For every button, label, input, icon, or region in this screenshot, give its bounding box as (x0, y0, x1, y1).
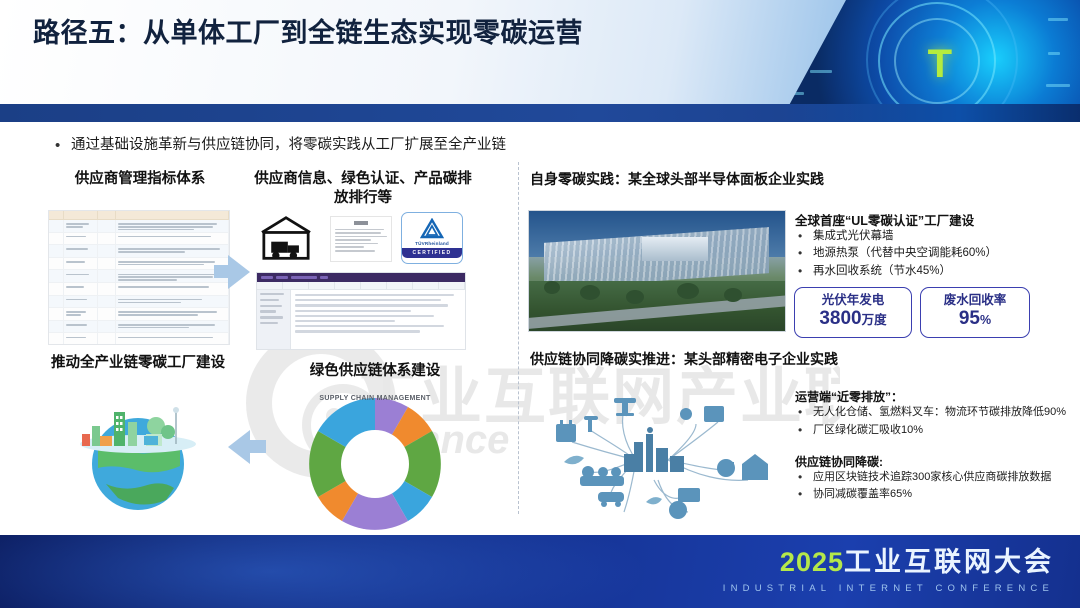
tuv-triangle-icon (420, 218, 444, 240)
conference-year: 2025 (780, 547, 844, 577)
slide-body: •通过基础设施革新与供应链协同，将零碳实践从工厂扩展至全产业链 工业互联网产业联… (0, 122, 1080, 535)
ul-zero-carbon-subtitle: 全球首座“UL零碳认证”工厂建设 (795, 210, 1075, 229)
page-title: 路径五：从单体工厂到全链生态实现零碳运营 (33, 16, 693, 52)
supplier-platform-screenshot (256, 272, 466, 350)
table-row (49, 245, 229, 258)
conference-logo-main: 2025工业互联网大会 (723, 549, 1054, 576)
green-earth-illustration (58, 392, 218, 512)
table-row (49, 283, 229, 296)
table-row (49, 296, 229, 309)
heading-green-supply-chain: 绿色供应链体系建设 (285, 362, 465, 381)
conference-name-en: INDUSTRIAL INTERNET CONFERENCE (723, 583, 1054, 594)
browser-sidebar (257, 290, 291, 350)
list-item: 地源热泵（代替中央空调能耗60%） (795, 245, 1065, 262)
heading-supplier-index: 供应商管理指标体系 (42, 170, 238, 189)
table-row (49, 321, 229, 334)
conference-name-cn: 工业互联网大会 (844, 547, 1054, 577)
kpi-value: 95% (925, 308, 1025, 331)
table-row (49, 233, 229, 246)
table-row (49, 270, 229, 283)
heading-self-zero-carbon-practice: 自身零碳实践：某全球头部半导体面板企业实践 (530, 170, 1050, 188)
kpi-card-wastewater-recovery: 废水回收率 95% (920, 287, 1030, 338)
supply-chain-network-diagram (528, 384, 790, 534)
list-item: 应用区块链技术追踪300家核心供应商碳排放数据 (795, 469, 1080, 486)
supply-chain-decarb-title: 供应链协同降碳: (795, 453, 1075, 470)
browser-title-bar (257, 273, 465, 282)
kpi-value: 3800万度 (799, 308, 907, 331)
tuv-certified-label: CERTIFIED (402, 248, 462, 258)
list-item: 协同减碳覆盖率65% (795, 486, 1080, 503)
intro-bullet-text: 通过基础设施革新与供应链协同，将零碳实践从工厂扩展至全产业链 (71, 137, 506, 153)
bullet-marker-icon: • (55, 135, 71, 156)
intro-bullet: •通过基础设施革新与供应链协同，将零碳实践从工厂扩展至全产业链 (55, 135, 955, 156)
list-item: 厂区绿化碳汇吸收10% (795, 422, 1080, 439)
kpi-label: 废水回收率 (925, 293, 1025, 307)
table-row (49, 308, 229, 321)
slide-header: T 路径五：从单体工厂到全链生态实现零碳运营 (0, 0, 1080, 122)
factory-aerial-photo (528, 210, 786, 332)
kpi-card-solar-generation: 光伏年发电 3800万度 (794, 287, 912, 338)
operations-bullet-list: 无人化仓储、氢燃料叉车：物流环节碳排放降低90% 厂区绿化碳汇吸收10% (795, 404, 1080, 439)
operations-near-zero-title: 运营端“近零排放”： (795, 388, 1075, 405)
kpi-label: 光伏年发电 (799, 293, 907, 307)
heading-supply-chain-collaboration: 供应链协同降碳实推进：某头部精密电子企业实践 (530, 350, 1050, 368)
slide-footer: 2025工业互联网大会 INDUSTRIAL INTERNET CONFEREN… (0, 535, 1080, 608)
list-item: 集成式光伏幕墙 (795, 228, 1065, 245)
certificate-document-thumbnail (330, 216, 392, 262)
supplier-index-table-thumbnail (48, 210, 230, 345)
browser-nav-bar (257, 282, 465, 290)
conference-logo: 2025工业互联网大会 INDUSTRIAL INTERNET CONFEREN… (723, 549, 1054, 594)
browser-content (257, 290, 465, 350)
header-accent-bar (0, 104, 1080, 122)
vertical-divider (518, 162, 519, 514)
tuv-brand-label: TÜVRheinland (415, 241, 449, 246)
supply-chain-management-wheel (305, 394, 445, 534)
certification-icon-row: TÜVRheinland CERTIFIED (258, 214, 463, 270)
list-item: 无人化仓储、氢燃料叉车：物流环节碳排放降低90% (795, 404, 1080, 421)
list-item: 再水回收系统（节水45%） (795, 263, 1065, 280)
table-row (49, 258, 229, 271)
flow-arrow-right-icon (228, 255, 250, 289)
supply-chain-decarb-bullet-list: 应用区块链技术追踪300家核心供应商碳排放数据 协同减碳覆盖率65% (795, 469, 1080, 502)
tuv-rheinland-certified-badge: TÜVRheinland CERTIFIED (401, 212, 463, 264)
table-row (49, 220, 229, 233)
conference-t-logo-icon: T (928, 44, 952, 84)
table-header-row (49, 211, 229, 220)
browser-main-panel (291, 290, 465, 350)
heading-supplier-info: 供应商信息、绿色认证、产品碳排放排行等 (252, 170, 474, 208)
wheel-center-label: SUPPLY CHAIN MANAGEMENT (305, 394, 445, 403)
table-row (49, 333, 229, 345)
warehouse-truck-icon (258, 214, 314, 262)
flow-arrow-left-icon (228, 430, 250, 464)
flow-arrow-left-tail (250, 440, 266, 453)
heading-zero-carbon-factory: 推动全产业链零碳工厂建设 (48, 354, 228, 373)
self-practice-bullet-list: 集成式光伏幕墙 地源热泵（代替中央空调能耗60%） 再水回收系统（节水45%） (795, 228, 1065, 280)
